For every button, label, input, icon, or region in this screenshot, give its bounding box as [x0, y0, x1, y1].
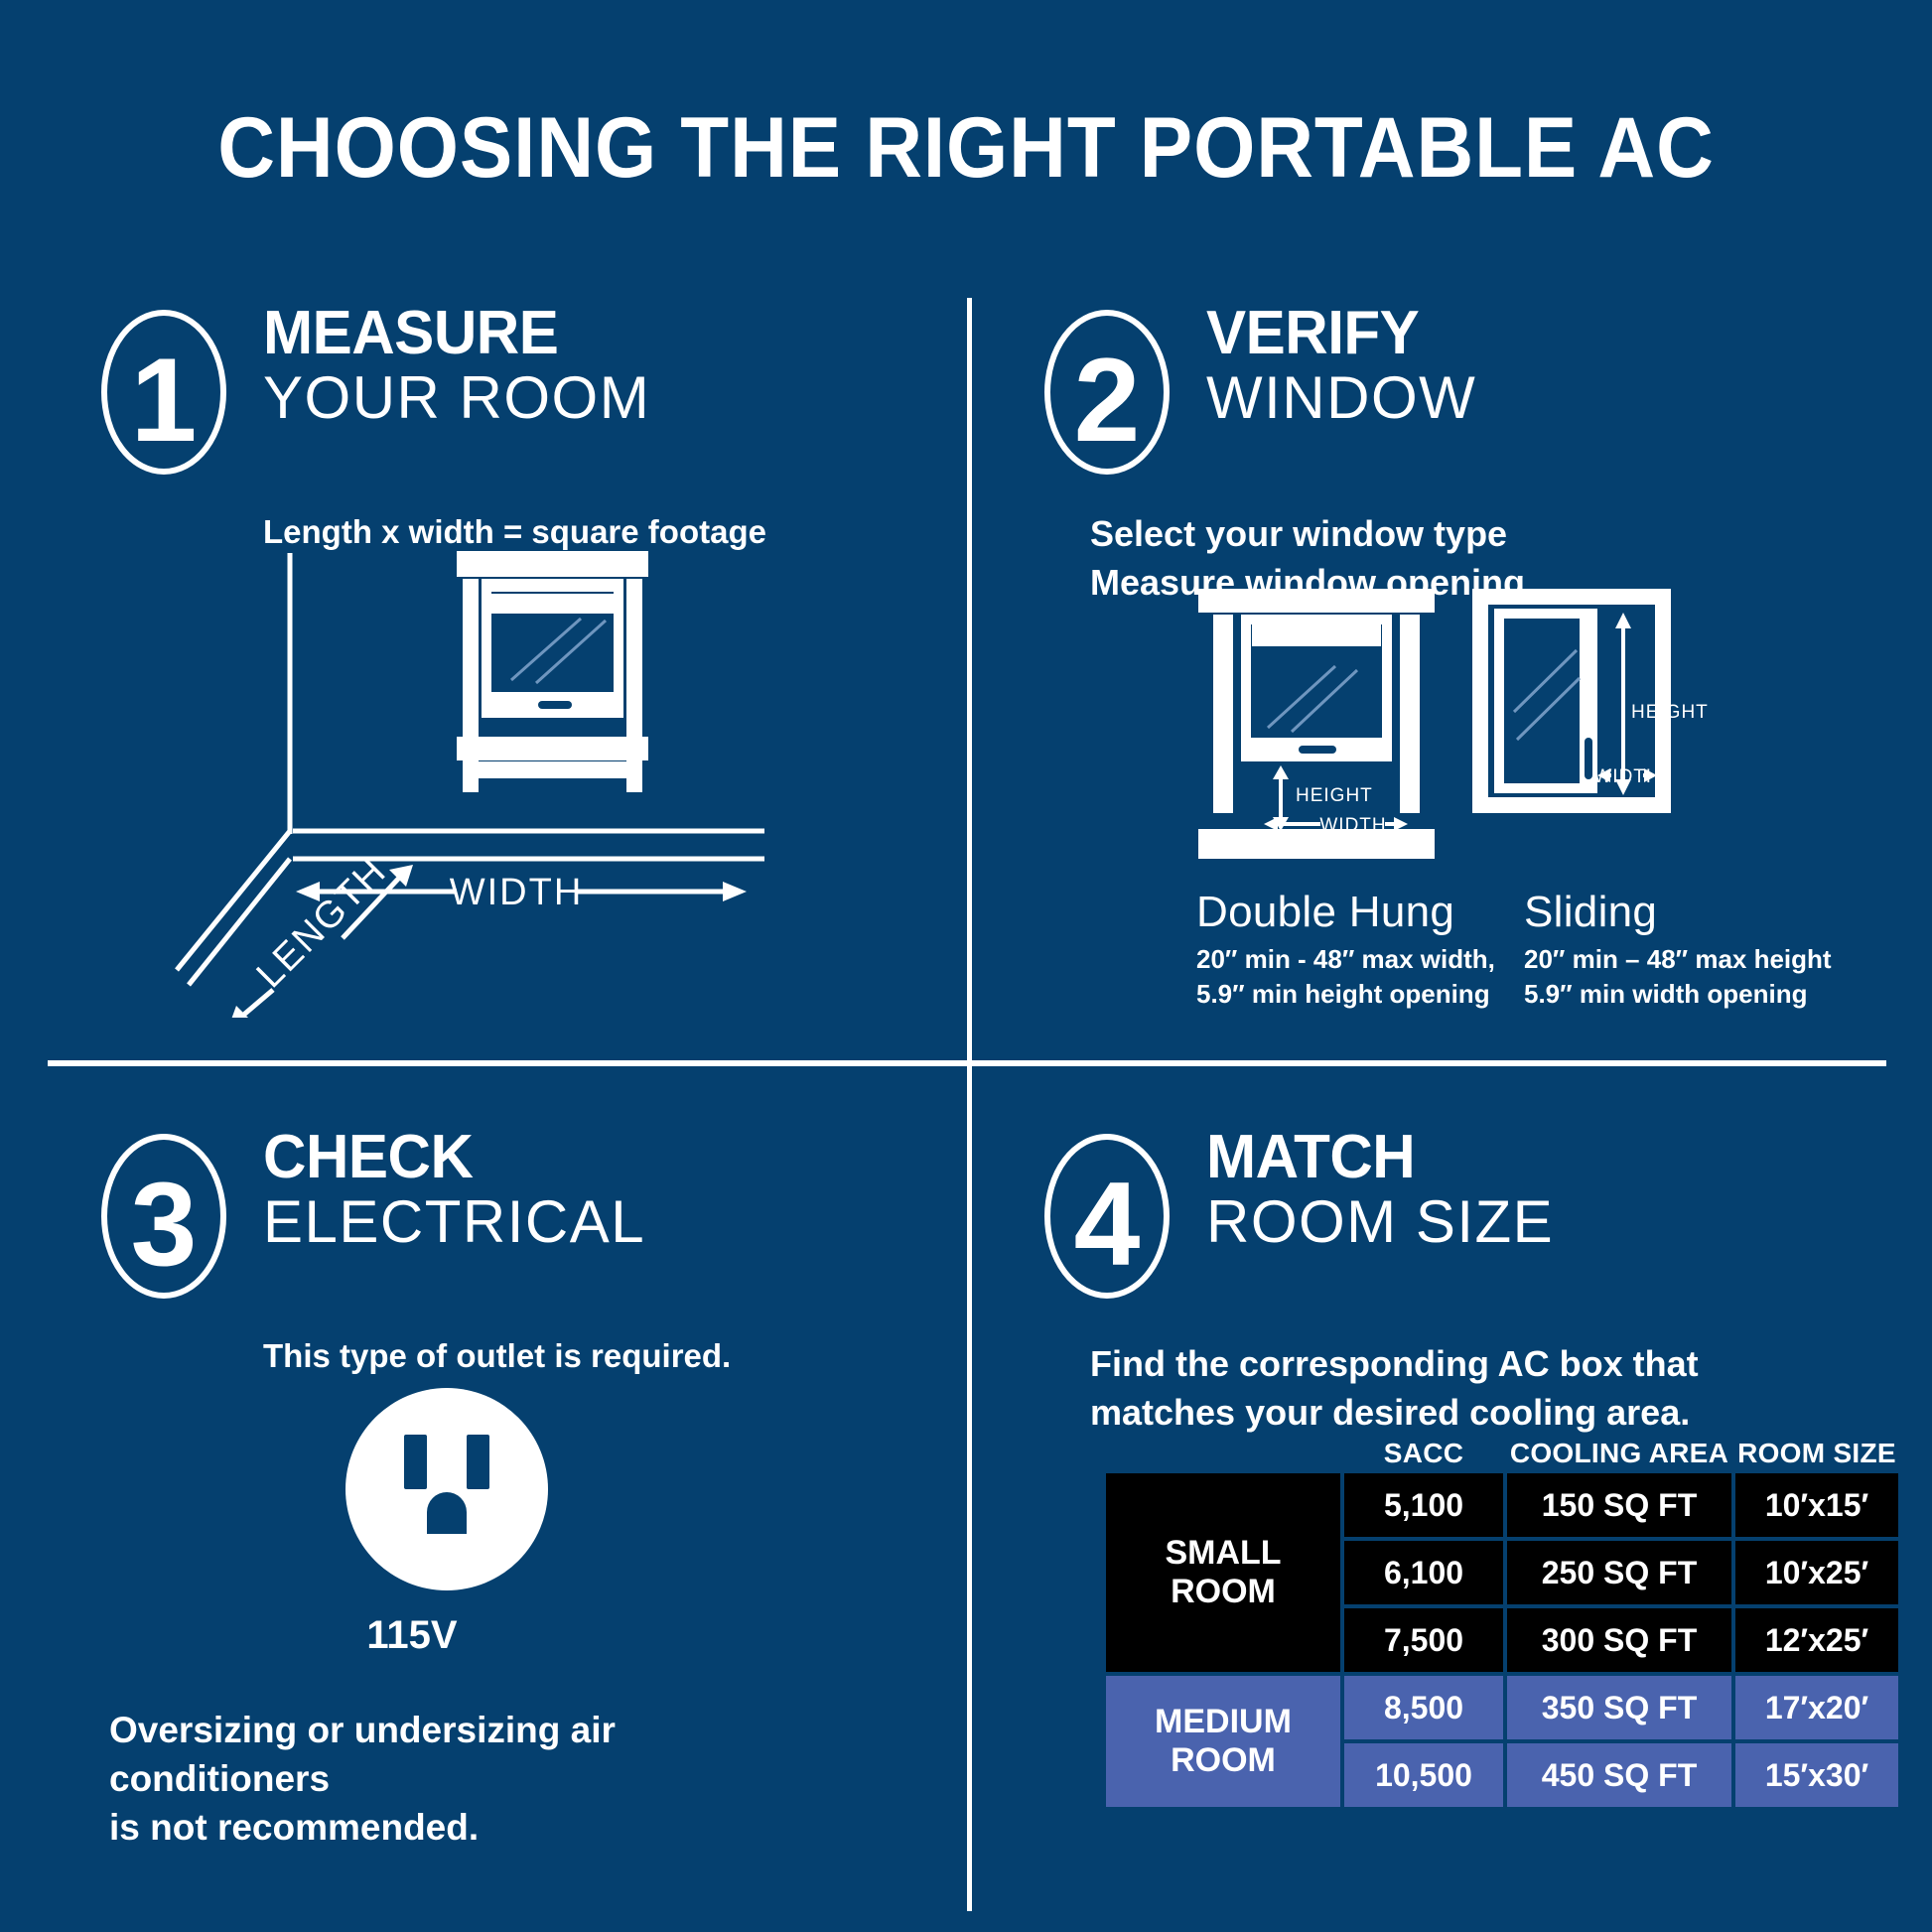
- group-label-medium-room-line1: MEDIUM: [1106, 1703, 1340, 1741]
- col-header-room-size: ROOM SIZE: [1735, 1438, 1898, 1469]
- group-label-medium-room-line2: ROOM: [1106, 1741, 1340, 1780]
- sliding-specs: 20″ min – 48″ max height 5.9″ min width …: [1524, 942, 1852, 1012]
- window-type-double-hung: Double Hung 20″ min - 48″ max width, 5.9…: [1196, 889, 1524, 1013]
- cell-sacc: 7,500: [1344, 1608, 1503, 1672]
- cell-cooling-area: 300 SQ FT: [1507, 1608, 1731, 1672]
- sliding-height-label: HEIGHT: [1631, 702, 1709, 723]
- col-header-group: [1106, 1438, 1340, 1469]
- sliding-spec-line1: 20″ min – 48″ max height: [1524, 942, 1852, 977]
- step-4-header: 4 MATCH ROOM SIZE: [1042, 1132, 1916, 1320]
- cell-cooling-area: 450 SQ FT: [1507, 1743, 1731, 1807]
- double-hung-window-illustration: HEIGHT WIDTH: [1198, 589, 1435, 859]
- group-label-small-room-line1: SMALL: [1106, 1534, 1340, 1573]
- window-type-captions: Double Hung 20″ min - 48″ max width, 5.9…: [1196, 889, 1891, 1013]
- power-outlet-icon: [343, 1385, 551, 1598]
- step-1-header: 1 MEASURE YOUR ROOM: [99, 308, 943, 496]
- cell-sacc: 6,100: [1344, 1541, 1503, 1604]
- step-3-title-light: ELECTRICAL: [263, 1190, 645, 1253]
- step-4-title-block: MATCH ROOM SIZE: [1206, 1126, 1554, 1253]
- step-3-title-bold: CHECK: [263, 1126, 634, 1188]
- cell-room-size: 12′x25′: [1735, 1608, 1898, 1672]
- svg-text:1: 1: [131, 334, 198, 467]
- window-types-diagram: HEIGHT WIDTH: [1196, 581, 1891, 874]
- double-hung-name: Double Hung: [1196, 889, 1524, 936]
- double-hung-spec-line2: 5.9″ min height opening: [1196, 977, 1524, 1012]
- step-4-title-bold: MATCH: [1206, 1126, 1544, 1188]
- sliding-spec-line2: 5.9″ min width opening: [1524, 977, 1852, 1012]
- step-1-title-block: MEASURE YOUR ROOM: [263, 302, 650, 429]
- table-row[interactable]: SMALL ROOM 5,100 150 SQ FT 10′x15′: [1106, 1473, 1898, 1537]
- horizontal-divider: [48, 1060, 1886, 1066]
- col-header-cooling-area: COOLING AREA: [1507, 1438, 1731, 1469]
- cell-sacc: 10,500: [1344, 1743, 1503, 1807]
- step-3-title-block: CHECK ELECTRICAL: [263, 1126, 645, 1253]
- cell-room-size: 10′x15′: [1735, 1473, 1898, 1537]
- cell-sacc: 5,100: [1344, 1473, 1503, 1537]
- cell-room-size: 15′x30′: [1735, 1743, 1898, 1807]
- col-header-sacc: SACC: [1344, 1438, 1503, 1469]
- ac-sizing-table-wrapper: SACC COOLING AREA ROOM SIZE SMALL ROOM 5…: [1102, 1434, 1886, 1811]
- step-2-title-block: VERIFY WINDOW: [1206, 302, 1476, 429]
- ac-sizing-table: SACC COOLING AREA ROOM SIZE SMALL ROOM 5…: [1102, 1434, 1902, 1811]
- step-1-title-light: YOUR ROOM: [263, 366, 650, 429]
- double-hung-width-label: WIDTH: [1319, 815, 1386, 836]
- step-number-badge-4: 4: [1042, 1132, 1172, 1301]
- step-number-badge-3: 3: [99, 1132, 228, 1301]
- step-4-title-light: ROOM SIZE: [1206, 1190, 1554, 1253]
- table-row[interactable]: MEDIUM ROOM 8,500 350 SQ FT 17′x20′: [1106, 1676, 1898, 1739]
- cell-cooling-area: 350 SQ FT: [1507, 1676, 1731, 1739]
- room-length-label: LENGTH: [249, 850, 395, 996]
- sizing-note-line1: Oversizing or undersizing air conditione…: [109, 1706, 844, 1803]
- cell-cooling-area: 150 SQ FT: [1507, 1473, 1731, 1537]
- step-number-badge-1: 1: [99, 308, 228, 477]
- step-4-subtitle: Find the corresponding AC box that match…: [1090, 1340, 1916, 1437]
- sliding-name: Sliding: [1524, 889, 1852, 936]
- step-2-header: 2 VERIFY WINDOW: [1042, 308, 1886, 496]
- cell-cooling-area: 250 SQ FT: [1507, 1541, 1731, 1604]
- step-2-title-light: WINDOW: [1206, 366, 1476, 429]
- step-number-badge-2: 2: [1042, 308, 1172, 477]
- group-label-small-room: SMALL ROOM: [1106, 1473, 1340, 1672]
- sliding-window-illustration: HEIGHT WIDTH: [1472, 589, 1709, 813]
- page-title: CHOOSING THE RIGHT PORTABLE AC: [68, 99, 1864, 198]
- double-hung-specs: 20″ min - 48″ max width, 5.9″ min height…: [1196, 942, 1524, 1012]
- step-2-title-bold: VERIFY: [1206, 302, 1468, 364]
- table-header-row: SACC COOLING AREA ROOM SIZE: [1106, 1438, 1898, 1469]
- room-width-label: WIDTH: [450, 872, 584, 913]
- step-2-subtitle-line1: Select your window type: [1090, 510, 1886, 559]
- cell-sacc: 8,500: [1344, 1676, 1503, 1739]
- window-type-sliding: Sliding 20″ min – 48″ max height 5.9″ mi…: [1524, 889, 1852, 1013]
- step-4-subtitle-line1: Find the corresponding AC box that: [1090, 1340, 1916, 1389]
- group-label-small-room-line2: ROOM: [1106, 1573, 1340, 1611]
- double-hung-height-label: HEIGHT: [1296, 785, 1373, 806]
- ac-sizing-table-body: SMALL ROOM 5,100 150 SQ FT 10′x15′ 6,100…: [1106, 1473, 1898, 1807]
- room-measurement-diagram: WIDTH LENGTH: [169, 541, 804, 1023]
- infographic-page: CHOOSING THE RIGHT PORTABLE AC 1 MEASURE…: [0, 0, 1932, 1932]
- svg-text:3: 3: [131, 1158, 198, 1291]
- svg-text:2: 2: [1074, 334, 1141, 467]
- vertical-divider: [967, 298, 972, 1911]
- svg-text:4: 4: [1074, 1158, 1141, 1291]
- sliding-width-label: WIDTH: [1593, 766, 1660, 787]
- step-4-subtitle-line2: matches your desired cooling area.: [1090, 1389, 1916, 1438]
- step-1-title-bold: MEASURE: [263, 302, 638, 364]
- step-3-header: 3 CHECK ELECTRICAL: [99, 1132, 943, 1320]
- group-label-medium-room: MEDIUM ROOM: [1106, 1676, 1340, 1807]
- outlet-voltage-label: 115V: [248, 1613, 576, 1658]
- cell-room-size: 17′x20′: [1735, 1676, 1898, 1739]
- double-hung-spec-line1: 20″ min - 48″ max width,: [1196, 942, 1524, 977]
- step-3-subtitle: This type of outlet is required.: [263, 1334, 943, 1379]
- sizing-note: Oversizing or undersizing air conditione…: [109, 1706, 844, 1853]
- cell-room-size: 10′x25′: [1735, 1541, 1898, 1604]
- sizing-note-line2: is not recommended.: [109, 1803, 844, 1852]
